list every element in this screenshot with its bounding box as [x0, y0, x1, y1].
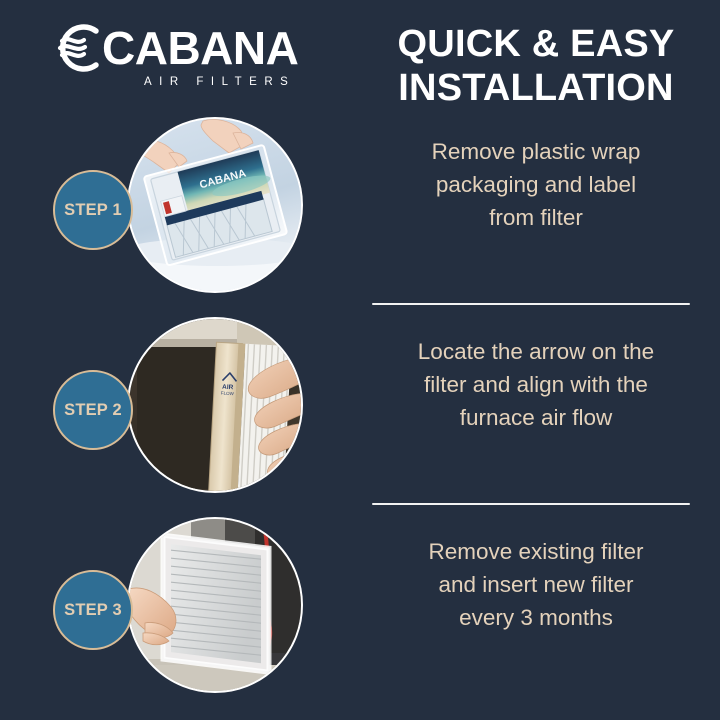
step-badge-label-1: STEP 1	[64, 201, 122, 220]
step-badge-1: STEP 1	[53, 170, 133, 250]
brand-name: CABANA	[102, 25, 298, 71]
headline-line-1: QUICK & EASY	[398, 23, 675, 65]
brand-tagline: AIR FILTERS	[144, 76, 352, 88]
step-description-1: Remove plastic wrap packaging and label …	[368, 135, 704, 234]
step-row-1: CABANA STEP 1 Remove plastic wrap pac	[0, 105, 720, 305]
step-row-3: STEP 3 Remove existing filter and insert…	[0, 505, 720, 705]
infographic-page: { "background_color": "#242f40", "brand"…	[0, 0, 720, 720]
step-2-line-2: filter and align with the	[368, 368, 704, 401]
page-title: QUICK & EASY INSTALLATION	[368, 22, 704, 110]
step-2-line-3: furnace air flow	[368, 401, 704, 434]
step-2-line-1: Locate the arrow on the	[368, 335, 704, 368]
step-3-line-1: Remove existing filter	[368, 535, 704, 568]
step-1-line-3: from filter	[368, 201, 704, 234]
step-photo-3	[127, 517, 303, 693]
page-header: CABANA AIR FILTERS QUICK & EASY INSTALLA…	[0, 0, 720, 112]
step-3-line-2: and insert new filter	[368, 568, 704, 601]
svg-text:FLOW: FLOW	[221, 391, 235, 397]
headline-line-2: INSTALLATION	[368, 66, 704, 110]
step-row-2: AIR FLOW	[0, 305, 720, 505]
step-3-line-3: every 3 months	[368, 601, 704, 634]
step-badge-label-3: STEP 3	[64, 601, 122, 620]
step-1-line-1: Remove plastic wrap	[368, 135, 704, 168]
step-badge-3: STEP 3	[53, 570, 133, 650]
step-photo-2: AIR FLOW	[127, 317, 303, 493]
step-description-2: Locate the arrow on the filter and align…	[368, 335, 704, 434]
step-badge-label-2: STEP 2	[64, 401, 122, 420]
step-1-line-2: packaging and label	[368, 168, 704, 201]
cabana-wave-circle-icon	[52, 22, 104, 74]
step-badge-2: STEP 2	[53, 370, 133, 450]
step-photo-1: CABANA	[127, 117, 303, 293]
step-description-3: Remove existing filter and insert new fi…	[368, 535, 704, 634]
brand-logo: CABANA AIR FILTERS	[52, 22, 352, 100]
